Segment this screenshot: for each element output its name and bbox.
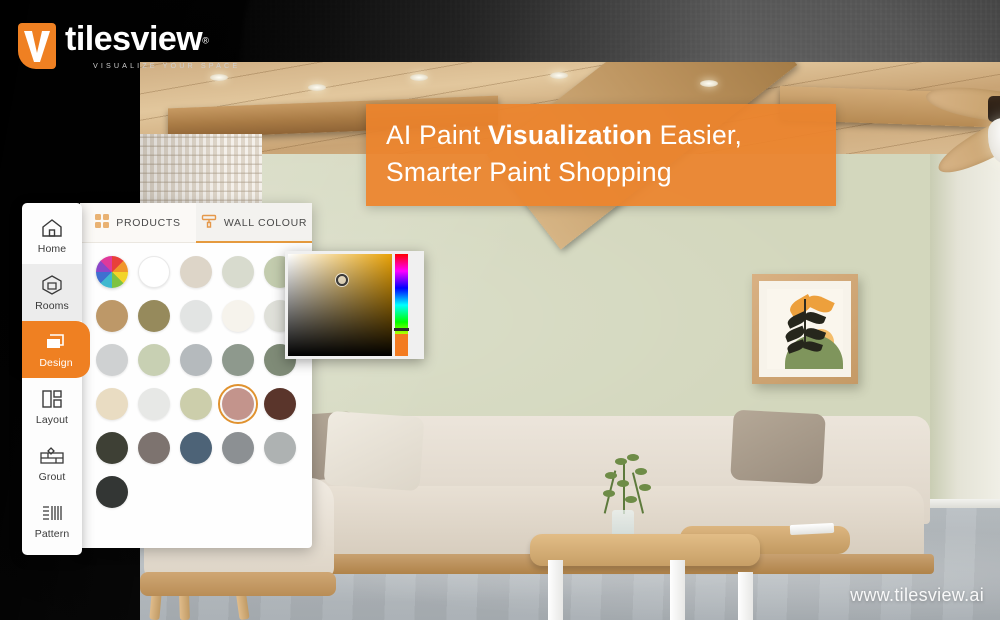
banner-text-post: Easier, xyxy=(652,120,742,150)
sidebar-label: Layout xyxy=(36,414,68,426)
tilesview-mark-icon xyxy=(18,23,56,69)
table-leg xyxy=(548,560,563,620)
colour-swatch[interactable] xyxy=(96,432,128,464)
colour-swatch[interactable] xyxy=(138,300,170,332)
layout-icon xyxy=(39,387,65,411)
design-icon xyxy=(43,330,69,354)
sidebar-item-home[interactable]: Home xyxy=(22,207,82,264)
banner-line-2: Smarter Paint Shopping xyxy=(386,154,816,191)
paint-roller-icon xyxy=(201,213,217,232)
picker-marker[interactable] xyxy=(336,274,348,286)
plant-stem xyxy=(632,472,644,513)
plant-leaf xyxy=(617,480,629,487)
tab-wall-colour[interactable]: WALL COLOUR xyxy=(196,203,312,242)
colour-swatch[interactable] xyxy=(180,432,212,464)
sidebar-label: Home xyxy=(38,243,66,255)
brand-name-row: tilesview® xyxy=(65,22,240,56)
sidebar-label: Rooms xyxy=(35,300,69,312)
sidebar-nav: Home Rooms Design La xyxy=(22,203,82,555)
downlight-icon xyxy=(410,74,428,81)
brand-logo[interactable]: tilesview® VISUALIZE YOUR SPACE xyxy=(18,22,240,70)
banner-text-bold: Visualization xyxy=(488,120,652,150)
banner-text-pre: AI Paint xyxy=(386,120,488,150)
table-leg xyxy=(670,560,685,620)
potted-plant xyxy=(595,452,657,514)
tab-products[interactable]: PRODUCTS xyxy=(80,203,196,242)
colour-swatch[interactable] xyxy=(180,344,212,376)
grid-icon xyxy=(95,214,109,231)
colour-swatch[interactable] xyxy=(222,388,254,420)
plant-leaf xyxy=(615,458,627,465)
brand-text: tilesview® VISUALIZE YOUR SPACE xyxy=(65,22,240,70)
brand-name: tilesview xyxy=(65,20,202,58)
art-canvas xyxy=(767,289,843,369)
colour-swatch[interactable] xyxy=(264,388,296,420)
banner-line-1: AI Paint Visualization Easier, xyxy=(386,117,816,154)
sidebar-label: Grout xyxy=(39,471,66,483)
colour-swatch[interactable] xyxy=(138,432,170,464)
saturation-value-field[interactable] xyxy=(288,254,392,356)
colour-swatch[interactable] xyxy=(138,256,170,288)
plant-stem xyxy=(804,299,806,345)
cushion xyxy=(324,411,425,492)
plant-leaf xyxy=(635,468,647,475)
table-leg xyxy=(738,572,753,620)
sidebar-label: Design xyxy=(39,357,72,369)
plant-leaf xyxy=(627,454,639,461)
plant-leaf xyxy=(605,472,617,479)
tab-label: PRODUCTS xyxy=(116,217,181,229)
framed-wall-art xyxy=(752,274,858,384)
logo-v-icon xyxy=(23,29,51,63)
pattern-icon xyxy=(39,501,65,525)
sidebar-item-layout[interactable]: Layout xyxy=(22,378,82,435)
downlight-icon xyxy=(210,74,228,81)
colour-wheel-swatch[interactable] xyxy=(96,256,128,288)
grout-icon xyxy=(39,444,65,468)
registered-mark: ® xyxy=(202,36,209,46)
colour-swatch[interactable] xyxy=(138,344,170,376)
colour-swatch[interactable] xyxy=(222,344,254,376)
colour-swatch[interactable] xyxy=(96,300,128,332)
home-icon xyxy=(39,216,65,240)
colour-swatch[interactable] xyxy=(180,300,212,332)
plant-leaf xyxy=(603,490,615,497)
brand-tagline: VISUALIZE YOUR SPACE xyxy=(65,61,240,70)
colour-swatch[interactable] xyxy=(138,388,170,420)
downlight-icon xyxy=(550,72,568,79)
sidebar-item-design[interactable]: Design xyxy=(22,321,90,378)
colour-swatch[interactable] xyxy=(96,476,128,508)
panel-tabs: PRODUCTS WALL COLOUR xyxy=(80,203,312,243)
wall-colour-sheet: PRODUCTS WALL COLOUR xyxy=(80,203,312,548)
sidebar-item-rooms[interactable]: Rooms xyxy=(22,264,82,321)
watermark: www.tilesview.ai xyxy=(850,585,984,606)
colour-swatch[interactable] xyxy=(222,256,254,288)
coffee-table-top xyxy=(530,534,760,566)
colour-swatch[interactable] xyxy=(96,344,128,376)
hue-slider-handle[interactable] xyxy=(394,328,409,331)
ceiling-fan xyxy=(840,72,1000,182)
colour-swatch[interactable] xyxy=(222,300,254,332)
downlight-icon xyxy=(308,84,326,91)
colour-swatch-grid xyxy=(80,243,312,524)
design-tool-panel: Home Rooms Design La xyxy=(22,203,312,555)
sidebar-item-grout[interactable]: Grout xyxy=(22,435,82,492)
colour-swatch[interactable] xyxy=(180,256,212,288)
rooms-icon xyxy=(39,273,65,297)
colour-swatch[interactable] xyxy=(222,432,254,464)
cushion xyxy=(730,410,826,485)
plant-leaf xyxy=(625,496,637,503)
downlight-icon xyxy=(700,80,718,87)
colour-picker-popup[interactable] xyxy=(285,251,424,359)
sidebar-label: Pattern xyxy=(35,528,70,540)
art-mat xyxy=(759,281,851,377)
tab-label: WALL COLOUR xyxy=(224,217,307,229)
chaise-wood-base xyxy=(140,572,336,596)
colour-swatch[interactable] xyxy=(96,388,128,420)
promo-banner: AI Paint Visualization Easier, Smarter P… xyxy=(366,104,836,206)
colour-swatch[interactable] xyxy=(264,432,296,464)
colour-swatch[interactable] xyxy=(180,388,212,420)
plant-leaf xyxy=(639,484,651,491)
sidebar-item-pattern[interactable]: Pattern xyxy=(22,492,82,549)
hue-slider[interactable] xyxy=(395,254,408,356)
current-colour-preview xyxy=(395,334,408,356)
plant-stem xyxy=(623,460,625,514)
